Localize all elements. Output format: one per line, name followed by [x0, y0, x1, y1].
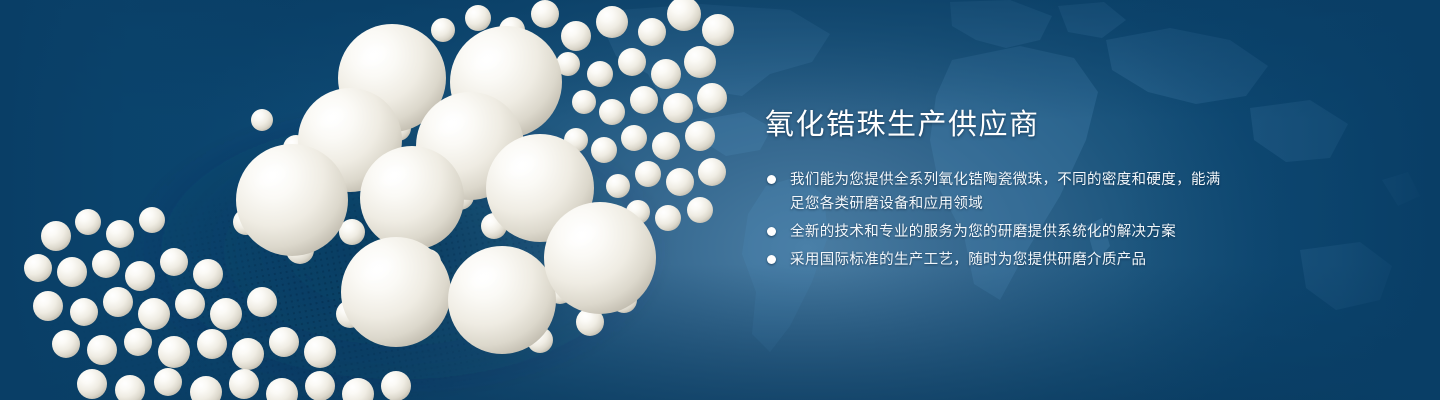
- bullet-dot-icon: [767, 255, 776, 264]
- list-item-label: 全新的技术和专业的服务为您的研磨提供系统化的解决方案: [790, 220, 1235, 244]
- list-item: 全新的技术和专业的服务为您的研磨提供系统化的解决方案: [765, 220, 1235, 244]
- banner-copy: 氧化锆珠生产供应商 我们能为您提供全系列氧化锆陶瓷微珠，不同的密度和硬度，能满足…: [765, 108, 1235, 276]
- page-title: 氧化锆珠生产供应商: [765, 108, 1235, 142]
- list-item-label: 采用国际标准的生产工艺，随时为您提供研磨介质产品: [790, 248, 1235, 272]
- feature-list: 我们能为您提供全系列氧化锆陶瓷微珠，不同的密度和硬度，能满足您各类研磨设备和应用…: [765, 168, 1235, 272]
- bullet-dot-icon: [767, 227, 776, 236]
- hero-banner: 氧化锆珠生产供应商 我们能为您提供全系列氧化锆陶瓷微珠，不同的密度和硬度，能满足…: [0, 0, 1440, 400]
- list-item: 采用国际标准的生产工艺，随时为您提供研磨介质产品: [765, 248, 1235, 272]
- list-item: 我们能为您提供全系列氧化锆陶瓷微珠，不同的密度和硬度，能满足您各类研磨设备和应用…: [765, 168, 1235, 216]
- product-image-zirconia-beads: [0, 0, 760, 400]
- bullet-dot-icon: [767, 175, 776, 184]
- list-item-label: 我们能为您提供全系列氧化锆陶瓷微珠，不同的密度和硬度，能满足您各类研磨设备和应用…: [790, 168, 1235, 216]
